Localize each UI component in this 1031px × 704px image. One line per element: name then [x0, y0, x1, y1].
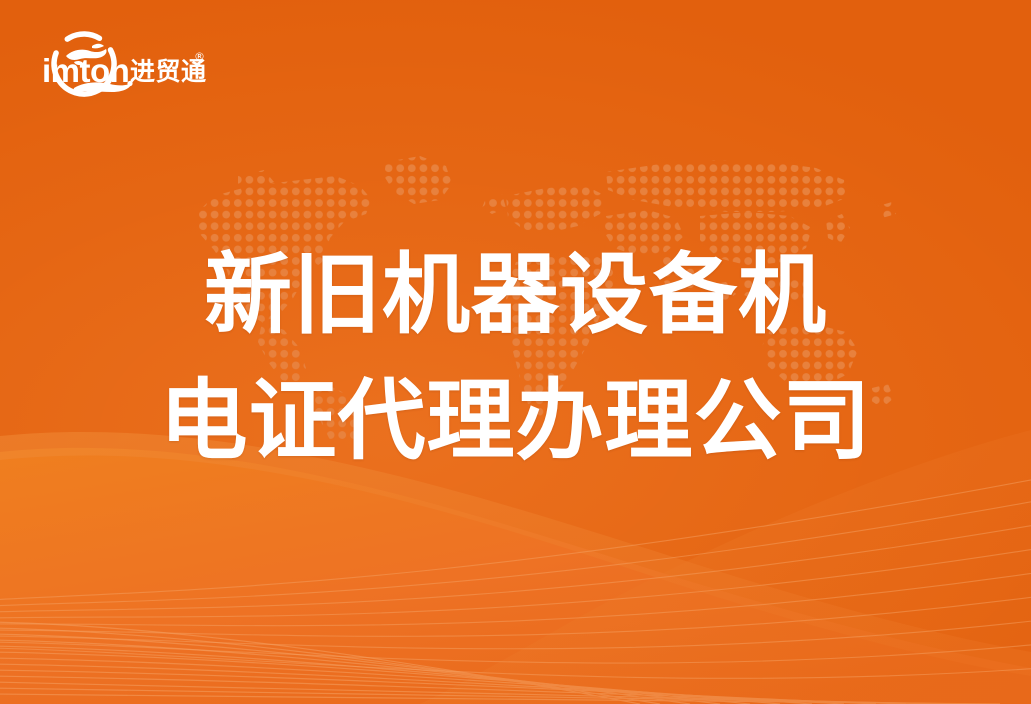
- headline-line-1: 新旧机器设备机: [0, 232, 1031, 358]
- registered-trademark-icon: ®: [194, 50, 205, 63]
- brand-logo[interactable]: imton 进贸通 ®: [38, 26, 238, 106]
- logo-wordmark: imton: [42, 52, 129, 89]
- headline-block: 新旧机器设备机 电证代理办理公司: [0, 232, 1031, 484]
- headline-line-2: 电证代理办理公司: [0, 358, 1031, 484]
- banner-canvas: imton 进贸通 ® 新旧机器设备机 电证代理办理公司: [0, 0, 1031, 704]
